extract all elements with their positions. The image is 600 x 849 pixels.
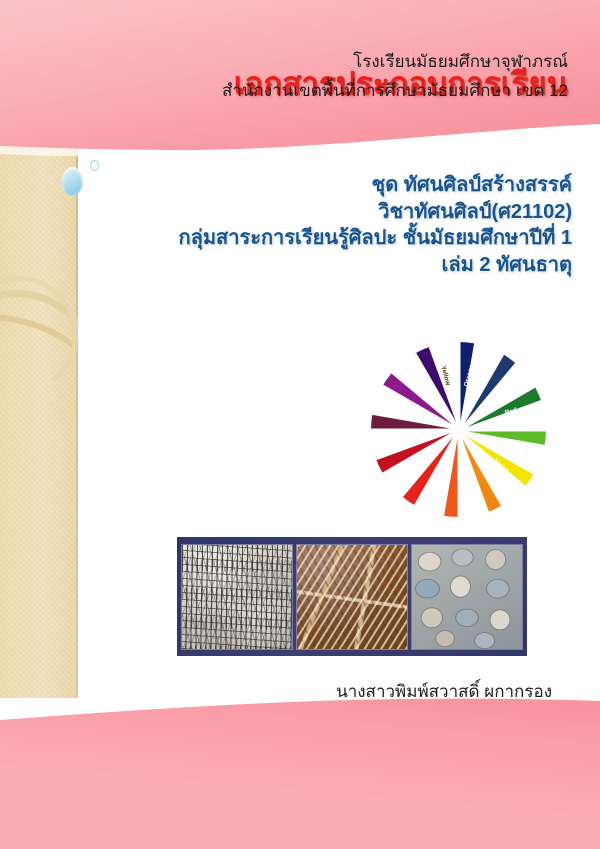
cracked-bark-texture-image xyxy=(182,545,292,649)
subject-title-line-1: ชุด ทัศนศิลป์สร้างสรรค์ xyxy=(102,172,572,199)
pebble-stones-texture-photo xyxy=(411,544,523,650)
texture-photo-strip xyxy=(177,537,527,656)
swirl-ring-middle-icon xyxy=(0,296,78,380)
document-cover-page: เอกสารประกอบการเรียน ชุด ทัศนศิลป์สร้างส… xyxy=(0,0,600,849)
swirl-ring-outer-icon xyxy=(0,269,78,380)
footer-band xyxy=(0,689,600,849)
color-wheel-figure: YellowOrange- YellowOrangeRed- OrangeRed… xyxy=(371,342,546,517)
swirl-ring-inner-icon xyxy=(0,276,78,380)
subject-title-block: ชุด ทัศนศิลป์สร้างสรรค์ วิชาทัศนศิลป์(ศ2… xyxy=(102,172,572,278)
subject-title-line-2: วิชาทัศนศิลป์(ศ21102) xyxy=(102,199,572,226)
color-wheel-divider xyxy=(459,428,547,431)
color-wheel-hub xyxy=(454,425,463,434)
footer-text-block: โรงเรียนมัธยมศึกษาจุฬาภรณ์ สำนักงานเขตพื… xyxy=(28,48,568,106)
color-wheel-divider xyxy=(371,428,459,431)
pebble-stones-texture-image xyxy=(412,545,522,649)
subject-title-line-3: กลุ่มสาระการเรียนรู้ศิลปะ ชั้นมัธยมศึกษา… xyxy=(102,225,572,252)
footer-band-fill xyxy=(0,689,600,849)
feather-leaf-texture-photo xyxy=(296,544,408,650)
footer-school-name: โรงเรียนมัธยมศึกษาจุฬาภรณ์ xyxy=(28,48,568,77)
color-wheel-divider xyxy=(457,342,460,430)
bubble-small-icon xyxy=(90,160,99,171)
footer-office-name: สำนักงานเขตพื้นที่การศึกษามัธยมศึกษา เขต… xyxy=(28,77,568,106)
cracked-bark-texture-photo xyxy=(181,544,293,650)
subject-title-line-4: เล่ม 2 ทัศนธาตุ xyxy=(102,252,572,279)
author-name: นางสาวพิมพ์สวาสดิ์ ผกากรอง xyxy=(72,678,552,705)
feather-leaf-texture-image xyxy=(297,545,407,649)
color-wheel-divider xyxy=(457,430,460,518)
bubble-icon xyxy=(62,167,83,196)
